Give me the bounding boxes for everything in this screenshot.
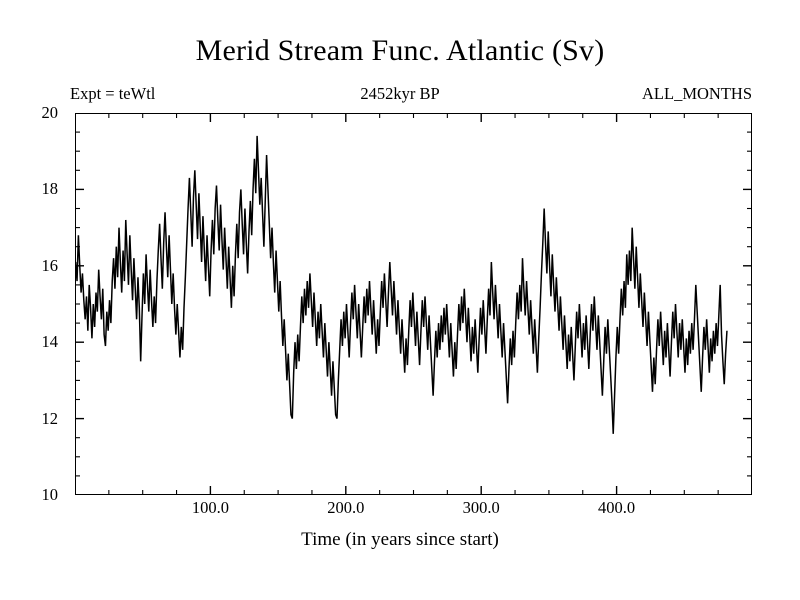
x-axis-title: Time (in years since start) (0, 530, 800, 549)
x-tick-label: 100.0 (192, 500, 229, 517)
y-axis-tick-labels: 101214161820 (0, 113, 66, 495)
y-tick-label: 14 (0, 334, 58, 351)
y-tick-label: 18 (0, 181, 58, 198)
y-tick-label: 16 (0, 258, 58, 275)
data-series-line (75, 113, 752, 495)
chart-figure: Merid Stream Func. Atlantic (Sv) Expt = … (0, 0, 800, 600)
y-tick-label: 20 (0, 105, 58, 122)
x-tick-label: 200.0 (327, 500, 364, 517)
chart-title: Merid Stream Func. Atlantic (Sv) (0, 36, 800, 66)
x-axis-tick-labels: 100.0200.0300.0400.0 (75, 500, 752, 526)
x-tick-label: 300.0 (463, 500, 500, 517)
months-annotation: ALL_MONTHS (642, 86, 752, 103)
x-tick-label: 400.0 (598, 500, 635, 517)
y-tick-label: 10 (0, 487, 58, 504)
y-tick-label: 12 (0, 410, 58, 427)
plot-area (75, 113, 752, 495)
